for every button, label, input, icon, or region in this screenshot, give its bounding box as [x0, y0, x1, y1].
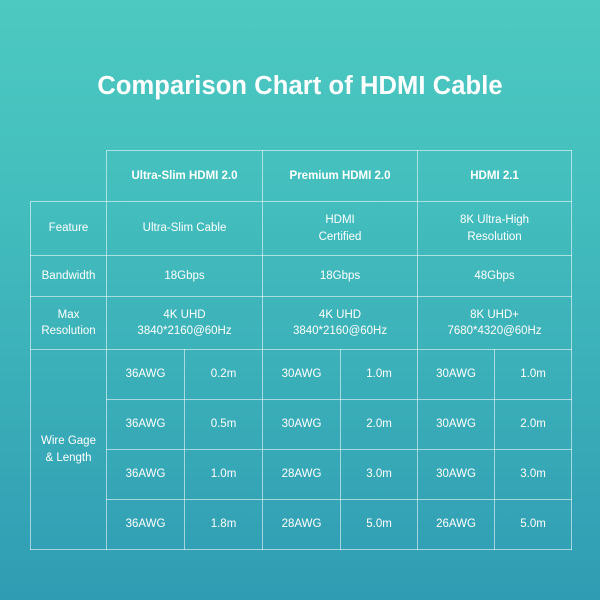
table-header-row: Ultra-Slim HDMI 2.0 Premium HDMI 2.0 HDM… — [31, 151, 572, 202]
cell-wire2-premium-length: 2.0m — [341, 400, 418, 450]
cell-bandwidth-ultra-slim: 18Gbps — [107, 256, 263, 297]
cell-wire1-ultra-slim-length: 0.2m — [185, 350, 263, 400]
cell-wire3-hdmi21-length: 3.0m — [495, 450, 572, 500]
cell-wire1-premium-length: 1.0m — [341, 350, 418, 400]
cell-feature-hdmi21-line2: Resolution — [467, 231, 521, 243]
cell-feature-ultra-slim-line1: Ultra-Slim Cable — [143, 222, 227, 234]
cell-maxres-hdmi21-line2: 7680*4320@60Hz — [447, 325, 541, 337]
cell-wire4-ultra-slim-length: 1.8m — [185, 500, 263, 550]
cell-wire1-ultra-slim-gauge: 36AWG — [107, 350, 185, 400]
cell-maxres-premium-line1: 4K UHD — [319, 309, 361, 321]
column-header-ultra-slim-hdmi-20: Ultra-Slim HDMI 2.0 — [107, 151, 263, 202]
cell-maxres-ultra-slim: 4K UHD 3840*2160@60Hz — [107, 297, 263, 350]
cell-bandwidth-hdmi21: 48Gbps — [418, 256, 572, 297]
cell-maxres-hdmi21-line1: 8K UHD+ — [470, 309, 519, 321]
cell-wire3-premium-length: 3.0m — [341, 450, 418, 500]
table-row-wire-2: 36AWG 0.5m 30AWG 2.0m 30AWG 2.0m — [31, 400, 572, 450]
cell-wire1-premium-gauge: 30AWG — [263, 350, 341, 400]
cell-wire4-hdmi21-gauge: 26AWG — [418, 500, 495, 550]
cell-maxres-premium-line2: 3840*2160@60Hz — [293, 325, 387, 337]
column-header-premium-hdmi-20: Premium HDMI 2.0 — [263, 151, 418, 202]
cell-wire3-premium-gauge: 28AWG — [263, 450, 341, 500]
row-label-wire-gage-length: Wire Gage & Length — [31, 350, 107, 550]
cell-wire1-hdmi21-length: 1.0m — [495, 350, 572, 400]
cell-wire2-hdmi21-length: 2.0m — [495, 400, 572, 450]
cell-wire3-ultra-slim-length: 1.0m — [185, 450, 263, 500]
cell-feature-premium-line2: Certified — [319, 231, 362, 243]
cell-feature-premium-line1: HDMI — [325, 214, 354, 226]
cell-feature-hdmi21-line1: 8K Ultra-High — [460, 214, 529, 226]
table-row-wire-3: 36AWG 1.0m 28AWG 3.0m 30AWG 3.0m — [31, 450, 572, 500]
cell-feature-ultra-slim: Ultra-Slim Cable — [107, 202, 263, 256]
row-label-max-resolution-line2: Resolution — [41, 325, 95, 337]
cell-wire2-premium-gauge: 30AWG — [263, 400, 341, 450]
cell-maxres-hdmi21: 8K UHD+ 7680*4320@60Hz — [418, 297, 572, 350]
column-header-hdmi-21: HDMI 2.1 — [418, 151, 572, 202]
cell-maxres-ultra-slim-line1: 4K UHD — [163, 309, 205, 321]
table-row-feature: Feature Ultra-Slim Cable HDMI Certified … — [31, 202, 572, 256]
cell-wire2-ultra-slim-length: 0.5m — [185, 400, 263, 450]
cell-wire4-premium-gauge: 28AWG — [263, 500, 341, 550]
cell-bandwidth-premium: 18Gbps — [263, 256, 418, 297]
table-row-wire-1: Wire Gage & Length 36AWG 0.2m 30AWG 1.0m… — [31, 350, 572, 400]
table-row-bandwidth: Bandwidth 18Gbps 18Gbps 48Gbps — [31, 256, 572, 297]
row-label-wire-line2: & Length — [45, 452, 91, 464]
cell-wire1-hdmi21-gauge: 30AWG — [418, 350, 495, 400]
table-row-wire-4: 36AWG 1.8m 28AWG 5.0m 26AWG 5.0m — [31, 500, 572, 550]
cell-wire3-ultra-slim-gauge: 36AWG — [107, 450, 185, 500]
table-corner-cell — [31, 151, 107, 202]
table-row-max-resolution: Max Resolution 4K UHD 3840*2160@60Hz 4K … — [31, 297, 572, 350]
cell-wire3-hdmi21-gauge: 30AWG — [418, 450, 495, 500]
cell-wire2-ultra-slim-gauge: 36AWG — [107, 400, 185, 450]
cell-wire2-hdmi21-gauge: 30AWG — [418, 400, 495, 450]
row-label-max-resolution: Max Resolution — [31, 297, 107, 350]
cell-feature-hdmi21: 8K Ultra-High Resolution — [418, 202, 572, 256]
cell-maxres-ultra-slim-line2: 3840*2160@60Hz — [137, 325, 231, 337]
cell-wire4-premium-length: 5.0m — [341, 500, 418, 550]
page-title: Comparison Chart of HDMI Cable — [0, 72, 600, 101]
cell-feature-premium: HDMI Certified — [263, 202, 418, 256]
row-label-feature: Feature — [31, 202, 107, 256]
row-label-max-resolution-line1: Max — [58, 309, 80, 321]
cell-wire4-hdmi21-length: 5.0m — [495, 500, 572, 550]
comparison-table: Ultra-Slim HDMI 2.0 Premium HDMI 2.0 HDM… — [30, 150, 572, 550]
cell-maxres-premium: 4K UHD 3840*2160@60Hz — [263, 297, 418, 350]
row-label-wire-line1: Wire Gage — [41, 435, 96, 447]
row-label-bandwidth: Bandwidth — [31, 256, 107, 297]
cell-wire4-ultra-slim-gauge: 36AWG — [107, 500, 185, 550]
comparison-chart-page: Comparison Chart of HDMI Cable Ultra-Sli… — [0, 0, 600, 600]
